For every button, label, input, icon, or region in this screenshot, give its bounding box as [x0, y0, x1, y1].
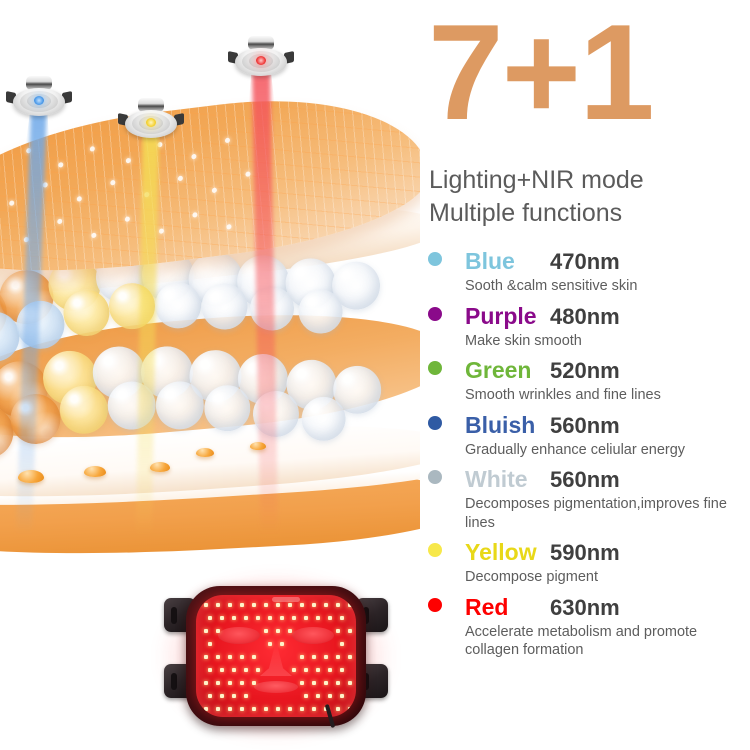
mask-led-dot: [312, 603, 316, 607]
subtitle-line-2: Multiple functions: [429, 197, 729, 230]
sebum-droplet: [196, 448, 214, 457]
mask-led-dot: [328, 694, 332, 698]
mask-led-dot: [336, 707, 340, 711]
epidermis-mesh-dot: [191, 154, 196, 160]
light-mode-item-green: Green 520nm Smooth wrinkles and fine lin…: [420, 357, 750, 405]
mask-top-notch: [272, 597, 300, 602]
mask-led-dot: [348, 707, 352, 711]
mask-led-dot: [292, 616, 296, 620]
infographic-root: 7+1 Lighting+NIR mode Multiple functions…: [0, 0, 750, 750]
mask-led-dot: [280, 616, 284, 620]
mask-led-dot: [280, 642, 284, 646]
mask-led-dot: [340, 642, 344, 646]
mask-led-dot: [228, 681, 232, 685]
epidermis-mesh-dot: [226, 224, 231, 230]
mask-led-dot: [292, 668, 296, 672]
mask-led-dot: [336, 681, 340, 685]
mask-led-dot: [304, 668, 308, 672]
mask-led-dot: [324, 681, 328, 685]
light-mode-item-yellow: Yellow 590nm Decompose pigment: [420, 539, 750, 587]
light-mode-list: Blue 470nm Sooth &calm sensitive skin Pu…: [420, 248, 750, 667]
light-mode-item-blue: Blue 470nm Sooth &calm sensitive skin: [420, 248, 750, 296]
mask-led-dot: [204, 655, 208, 659]
epidermis-mesh-dot: [91, 233, 96, 239]
mask-led-dot: [264, 629, 268, 633]
light-mode-name: Green: [465, 357, 550, 384]
mask-mouth-opening: [254, 681, 298, 693]
red-led-spotlight: [230, 42, 292, 76]
mask-led-dot: [244, 668, 248, 672]
mask-led-dot: [268, 642, 272, 646]
light-mode-item-purple: Purple 480nm Make skin smooth: [420, 303, 750, 351]
mask-led-dot: [228, 655, 232, 659]
light-mode-header: Blue 470nm: [420, 248, 750, 276]
mask-led-dot: [340, 616, 344, 620]
mask-led-dot: [204, 681, 208, 685]
sebum-droplet: [250, 442, 266, 450]
mask-led-dot: [304, 694, 308, 698]
epidermis-mesh-dot: [126, 158, 131, 164]
mask-led-dot: [288, 629, 292, 633]
mask-led-dot: [216, 681, 220, 685]
epidermis-mesh-dot: [77, 196, 82, 202]
spotlight-bulb-red: [256, 56, 266, 65]
mask-led-dot: [252, 655, 256, 659]
mask-led-dot: [276, 707, 280, 711]
mask-led-dot: [312, 681, 316, 685]
yellow-led-spotlight: [120, 104, 182, 138]
light-mode-name: Yellow: [465, 539, 550, 566]
epidermis-mesh-dot: [90, 146, 95, 152]
light-mode-wavelength: 480nm: [550, 304, 620, 330]
light-mode-header: Bluish 560nm: [420, 412, 750, 440]
mask-led-dot: [300, 655, 304, 659]
light-mode-header: White 560nm: [420, 466, 750, 494]
mask-led-dot: [316, 668, 320, 672]
light-mode-wavelength: 560nm: [550, 413, 620, 439]
mask-led-dot: [232, 668, 236, 672]
mask-led-dot: [216, 655, 220, 659]
subtitle-block: Lighting+NIR mode Multiple functions: [429, 164, 729, 231]
mask-led-dot: [276, 629, 280, 633]
light-mode-wavelength: 560nm: [550, 467, 620, 493]
light-mode-wavelength: 630nm: [550, 595, 620, 621]
mask-led-dot: [336, 629, 340, 633]
mask-led-dot: [216, 629, 220, 633]
color-dot-bluish-icon: [428, 416, 442, 430]
mask-led-dot: [208, 694, 212, 698]
mask-led-panel: [196, 595, 356, 717]
light-mode-item-red: Red 630nm Accelerate metabolism and prom…: [420, 594, 750, 660]
mask-led-dot: [316, 616, 320, 620]
mask-led-dot: [220, 668, 224, 672]
light-mode-description: Gradually enhance celiular energy: [465, 441, 737, 460]
mask-led-dot: [324, 603, 328, 607]
light-mode-name: Bluish: [465, 412, 550, 439]
epidermis-mesh-dot: [212, 188, 217, 194]
mask-led-dot: [208, 616, 212, 620]
mask-led-dot: [256, 616, 260, 620]
light-mode-name: Red: [465, 594, 550, 621]
headline-7-plus-1: 7+1: [428, 4, 653, 140]
light-mode-item-white: White 560nm Decomposes pigmentation,impr…: [420, 466, 750, 532]
light-mode-description: Sooth &calm sensitive skin: [465, 277, 737, 296]
mask-led-dot: [312, 707, 316, 711]
mask-led-dot: [264, 707, 268, 711]
epidermis-mesh-dot: [57, 219, 62, 225]
light-mode-header: Green 520nm: [420, 357, 750, 385]
color-dot-blue-icon: [428, 252, 442, 266]
mask-led-dot: [328, 616, 332, 620]
mask-led-dot: [232, 616, 236, 620]
sebum-droplet: [18, 470, 44, 483]
mask-led-dot: [348, 629, 352, 633]
light-mode-wavelength: 470nm: [550, 249, 620, 275]
mask-led-dot: [276, 603, 280, 607]
light-mode-wavelength: 590nm: [550, 540, 620, 566]
mask-led-dot: [240, 603, 244, 607]
color-dot-purple-icon: [428, 307, 442, 321]
mask-led-dot: [256, 668, 260, 672]
subtitle-line-1: Lighting+NIR mode: [429, 164, 729, 197]
light-mode-item-bluish: Bluish 560nm Gradually enhance celiular …: [420, 412, 750, 460]
mask-led-dot: [244, 694, 248, 698]
sebum-droplet: [84, 466, 106, 477]
epidermis-mesh-dot: [125, 216, 130, 222]
light-mode-description: Smooth wrinkles and fine lines: [465, 386, 737, 405]
light-mode-name: Blue: [465, 248, 550, 275]
spotlight-bulb-blue: [34, 96, 44, 105]
epidermis-mesh-dot: [110, 180, 115, 186]
color-dot-yellow-icon: [428, 543, 442, 557]
epidermis-mesh-dot: [245, 171, 250, 177]
mask-led-dot: [228, 707, 232, 711]
spotlight-bulb-yellow: [146, 118, 156, 127]
light-mode-description: Make skin smooth: [465, 332, 737, 351]
mask-led-dot: [304, 616, 308, 620]
mask-led-dot: [288, 603, 292, 607]
mask-outer-shell: [186, 586, 366, 726]
mask-led-dot: [252, 707, 256, 711]
mask-led-dot: [288, 707, 292, 711]
mask-led-dot: [300, 603, 304, 607]
mask-led-dot: [244, 616, 248, 620]
mask-led-dot: [240, 681, 244, 685]
sebum-droplet: [150, 462, 170, 472]
color-dot-red-icon: [428, 598, 442, 612]
mask-led-dot: [312, 655, 316, 659]
blue-led-spotlight: [8, 82, 70, 116]
mask-led-dot: [240, 655, 244, 659]
mask-led-dot: [204, 629, 208, 633]
mask-led-dot: [336, 603, 340, 607]
epidermis-mesh-dot: [9, 200, 14, 206]
mask-led-dot: [348, 655, 352, 659]
epidermis-mesh-dot: [178, 176, 183, 182]
mask-eye-opening-left: [218, 627, 260, 644]
mask-led-dot: [208, 642, 212, 646]
mask-led-dot: [316, 694, 320, 698]
mask-led-dot: [324, 655, 328, 659]
epidermis-mesh-dot: [225, 138, 230, 144]
mask-led-dot: [228, 603, 232, 607]
color-dot-green-icon: [428, 361, 442, 375]
mask-led-dot: [208, 668, 212, 672]
mask-led-dot: [348, 603, 352, 607]
light-mode-header: Yellow 590nm: [420, 539, 750, 567]
epidermis-mesh-dot: [192, 212, 197, 218]
mask-led-dot: [220, 694, 224, 698]
mask-led-dot: [264, 603, 268, 607]
light-mode-name: Purple: [465, 303, 550, 330]
epidermis-mesh-dot: [58, 162, 63, 168]
mask-nose-relief: [260, 641, 292, 676]
light-mode-name: White: [465, 466, 550, 493]
mask-led-dot: [268, 616, 272, 620]
mask-led-dot: [340, 694, 344, 698]
mask-led-dot: [252, 681, 256, 685]
light-mode-description: Accelerate metabolism and promote collag…: [465, 623, 737, 660]
mask-eye-opening-right: [292, 627, 334, 644]
mask-led-dot: [300, 707, 304, 711]
mask-led-dot: [240, 707, 244, 711]
mask-led-dot: [348, 681, 352, 685]
epidermis-mesh-dot: [159, 228, 164, 234]
light-mode-wavelength: 520nm: [550, 358, 620, 384]
light-mode-header: Red 630nm: [420, 594, 750, 622]
led-face-mask-device: [168, 582, 384, 732]
mask-led-dot: [336, 655, 340, 659]
mask-led-dot: [340, 668, 344, 672]
mask-led-dot: [216, 603, 220, 607]
mask-led-dot: [300, 681, 304, 685]
mask-led-dot: [204, 707, 208, 711]
mask-led-dot: [216, 707, 220, 711]
mask-led-dot: [232, 694, 236, 698]
light-mode-description: Decomposes pigmentation,improves fine li…: [465, 495, 737, 532]
mask-led-dot: [328, 668, 332, 672]
light-mode-description: Decompose pigment: [465, 568, 737, 587]
mask-led-dot: [204, 603, 208, 607]
light-mode-header: Purple 480nm: [420, 303, 750, 331]
info-panel: 7+1 Lighting+NIR mode Multiple functions…: [420, 0, 750, 750]
mask-led-dot: [252, 603, 256, 607]
skin-cross-section-illustration: [0, 0, 420, 580]
mask-led-dot: [220, 616, 224, 620]
color-dot-white-icon: [428, 470, 442, 484]
